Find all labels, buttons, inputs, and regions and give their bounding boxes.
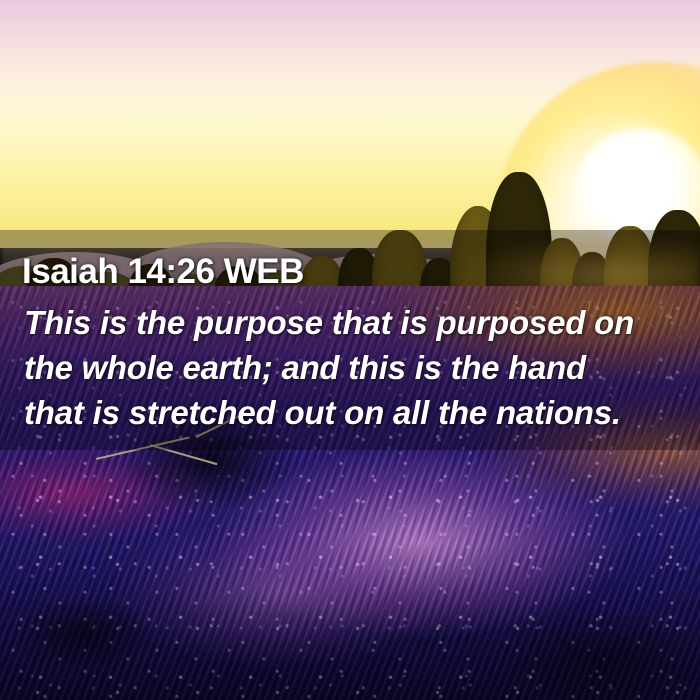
verse-image: Isaiah 14:26 WEB This is the purpose tha… [0, 0, 700, 700]
verse-text: This is the purpose that is purposed on … [24, 300, 684, 435]
verse-line: that is stretched out on all the nations… [24, 390, 684, 435]
verse-line: the whole earth; and this is the hand [24, 345, 681, 390]
verse-line: This is the purpose that is purposed on [24, 300, 684, 345]
verse-reference: Isaiah 14:26 WEB [22, 252, 304, 292]
